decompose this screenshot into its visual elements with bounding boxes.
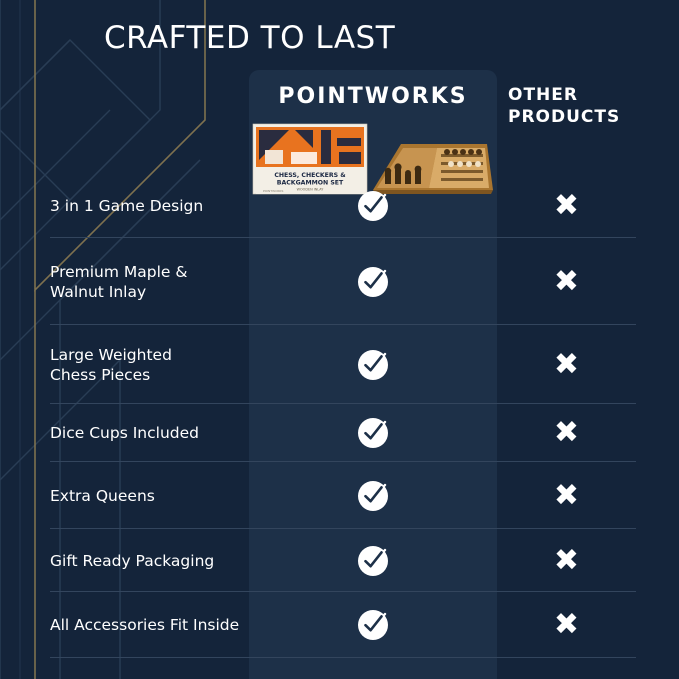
- cross-icon: ✖: [554, 610, 579, 640]
- table-row: Dice Cups Included✖: [50, 404, 636, 462]
- check-circle-icon: [356, 265, 390, 299]
- feature-label: Premium Maple &Walnut Inlay: [50, 262, 245, 302]
- comparison-chart-page: CRAFTED TO LAST POINTWORKS OTHER PRODUCT…: [0, 0, 679, 679]
- check-circle-icon: [356, 189, 390, 223]
- feature-label: Large WeightedChess Pieces: [50, 345, 245, 385]
- cross-icon: ✖: [554, 546, 579, 576]
- cross-icon: ✖: [554, 191, 579, 221]
- table-row: Large WeightedChess Pieces✖: [50, 325, 636, 404]
- table-row: Premium Maple &Walnut Inlay✖: [50, 238, 636, 325]
- check-circle-icon: [356, 416, 390, 450]
- ours-cell: [249, 544, 497, 578]
- check-circle-icon: [356, 544, 390, 578]
- table-row: Extra Queens✖: [50, 462, 636, 529]
- feature-label: 3 in 1 Game Design: [50, 196, 245, 216]
- theirs-cell: ✖: [497, 418, 636, 448]
- row-divider: [50, 657, 636, 658]
- ours-cell: [249, 416, 497, 450]
- feature-rows: 3 in 1 Game Design✖Premium Maple &Walnut…: [0, 0, 679, 679]
- ours-cell: [249, 348, 497, 382]
- feature-label: Extra Queens: [50, 486, 245, 506]
- ours-cell: [249, 479, 497, 513]
- cross-icon: ✖: [554, 267, 579, 297]
- theirs-cell: ✖: [497, 267, 636, 297]
- theirs-cell: ✖: [497, 481, 636, 511]
- feature-label: Dice Cups Included: [50, 423, 245, 443]
- cross-icon: ✖: [554, 350, 579, 380]
- feature-label: All Accessories Fit Inside: [50, 615, 245, 635]
- theirs-cell: ✖: [497, 546, 636, 576]
- theirs-cell: ✖: [497, 191, 636, 221]
- cross-icon: ✖: [554, 418, 579, 448]
- table-row: All Accessories Fit Inside✖: [50, 592, 636, 658]
- table-row: Gift Ready Packaging✖: [50, 529, 636, 592]
- theirs-cell: ✖: [497, 610, 636, 640]
- table-row: 3 in 1 Game Design✖: [50, 173, 636, 238]
- ours-cell: [249, 265, 497, 299]
- check-circle-icon: [356, 348, 390, 382]
- check-circle-icon: [356, 479, 390, 513]
- check-circle-icon: [356, 608, 390, 642]
- ours-cell: [249, 608, 497, 642]
- feature-label: Gift Ready Packaging: [50, 551, 245, 571]
- ours-cell: [249, 189, 497, 223]
- theirs-cell: ✖: [497, 350, 636, 380]
- cross-icon: ✖: [554, 481, 579, 511]
